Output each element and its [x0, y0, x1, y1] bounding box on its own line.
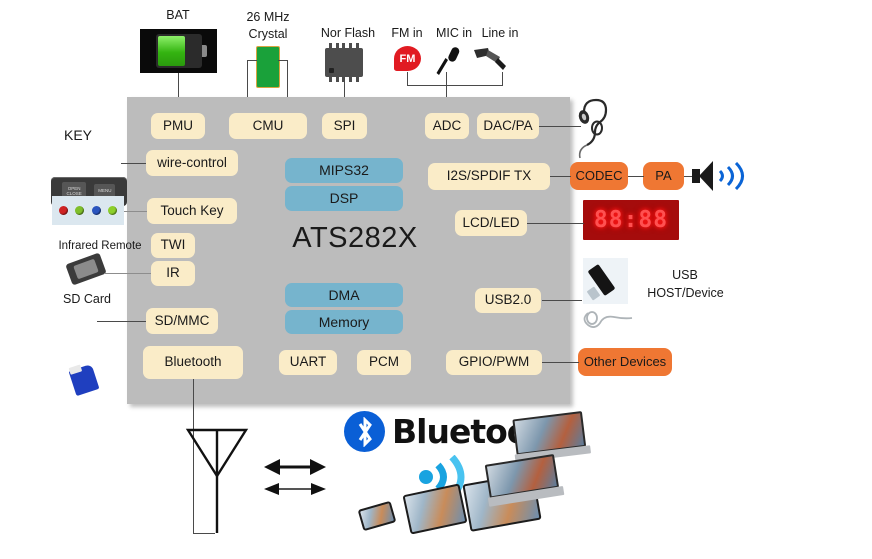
- line-lcdled-display: [527, 223, 584, 224]
- usb-stick-icon: [583, 258, 628, 304]
- peripheral-label-usb-line2: HOST/Device: [628, 286, 743, 301]
- peripheral-label-bat: BAT: [143, 8, 213, 23]
- block-mips32[interactable]: MIPS32: [285, 158, 403, 183]
- flash-chip-pins-top: [327, 43, 361, 48]
- crystal-icon: [256, 46, 280, 88]
- block-touch-key[interactable]: Touch Key: [147, 198, 237, 224]
- line-codec-pa: [628, 176, 644, 177]
- block-other-devices[interactable]: Other Devices: [578, 348, 672, 376]
- block-adc[interactable]: ADC: [425, 113, 469, 139]
- block-gpio-pwm[interactable]: GPIO/PWM: [446, 350, 542, 375]
- line-sdcard-sdmmc: [97, 321, 146, 322]
- chip-name: ATS282X: [255, 222, 455, 255]
- line-crystal-right-stub: [278, 60, 288, 61]
- block-pmu[interactable]: PMU: [151, 113, 205, 139]
- line-in-plug-icon: [470, 44, 512, 78]
- peripheral-label-crystal-line2: Crystal: [231, 27, 305, 42]
- line-touchpanel-touchkey: [124, 211, 147, 212]
- usb-cable-icon: [580, 305, 636, 335]
- block-pcm[interactable]: PCM: [357, 350, 411, 375]
- block-diagram-canvas: BAT 26 MHz Crystal Nor Flash FM in FM MI…: [0, 0, 872, 559]
- flash-chip-icon: [325, 48, 363, 77]
- block-spi[interactable]: SPI: [322, 113, 367, 139]
- line-linein-down: [502, 72, 503, 86]
- earphone-icon: [572, 98, 618, 160]
- block-pa[interactable]: PA: [643, 162, 684, 190]
- fm-badge-label: FM: [400, 53, 416, 65]
- block-uart[interactable]: UART: [279, 350, 337, 375]
- line-dacpa-earphone: [539, 126, 581, 127]
- peripheral-label-line-in: Line in: [473, 26, 527, 41]
- peripheral-label-usb-line1: USB: [630, 268, 740, 283]
- device-phone: [358, 501, 397, 532]
- block-memory[interactable]: Memory: [285, 310, 403, 334]
- peripheral-label-key: KEY: [53, 127, 103, 144]
- block-bluetooth[interactable]: Bluetooth: [143, 346, 243, 379]
- remote-control-icon: [65, 253, 106, 286]
- antenna-icon: [185, 420, 249, 535]
- bluetooth-mark-icon: [344, 411, 385, 452]
- seven-segment-display-icon: 88:88: [583, 200, 679, 240]
- peripheral-label-fm-in: FM in: [383, 26, 431, 41]
- touch-led-panel-icon: [52, 196, 124, 225]
- block-codec[interactable]: CODEC: [570, 162, 628, 190]
- block-wire-control[interactable]: wire-control: [146, 150, 238, 176]
- line-fm-down: [407, 72, 408, 86]
- line-remote-ir: [104, 273, 151, 274]
- line-crystal-left-stub: [247, 60, 257, 61]
- peripheral-label-infrared-remote: Infrared Remote: [45, 240, 155, 254]
- battery-icon: [140, 29, 217, 73]
- block-dma[interactable]: DMA: [285, 283, 403, 307]
- line-key-wirecontrol: [121, 163, 146, 164]
- block-dac-pa[interactable]: DAC/PA: [477, 113, 539, 139]
- seven-segment-value: 88:88: [594, 207, 668, 233]
- block-i2s-spdif-tx[interactable]: I2S/SPDIF TX: [428, 163, 550, 190]
- line-i2s-codec: [550, 176, 571, 177]
- peripheral-label-nor-flash: Nor Flash: [308, 26, 388, 41]
- microphone-icon: [430, 44, 464, 78]
- fm-radio-icon: FM: [394, 46, 421, 71]
- line-audio-in-bus: [407, 85, 502, 86]
- block-lcd-led[interactable]: LCD/LED: [455, 210, 527, 236]
- block-sd-mmc[interactable]: SD/MMC: [146, 308, 218, 334]
- sd-card-icon: [69, 364, 100, 396]
- device-laptop-bottom: [483, 453, 566, 512]
- peripheral-label-crystal-line1: 26 MHz: [231, 10, 305, 25]
- line-usb2-stick: [542, 300, 582, 301]
- speaker-icon: [692, 161, 750, 191]
- peripheral-label-sd-card: SD Card: [44, 292, 130, 307]
- block-twi[interactable]: TWI: [151, 233, 195, 258]
- bidirectional-arrow-bottom-icon: [264, 481, 326, 497]
- line-gpio-otherdevices: [542, 362, 579, 363]
- bidirectional-arrow-top-icon: [264, 458, 326, 476]
- block-cmu[interactable]: CMU: [229, 113, 307, 139]
- block-usb2[interactable]: USB2.0: [475, 288, 541, 313]
- block-ir[interactable]: IR: [151, 261, 195, 286]
- block-dsp[interactable]: DSP: [285, 186, 403, 211]
